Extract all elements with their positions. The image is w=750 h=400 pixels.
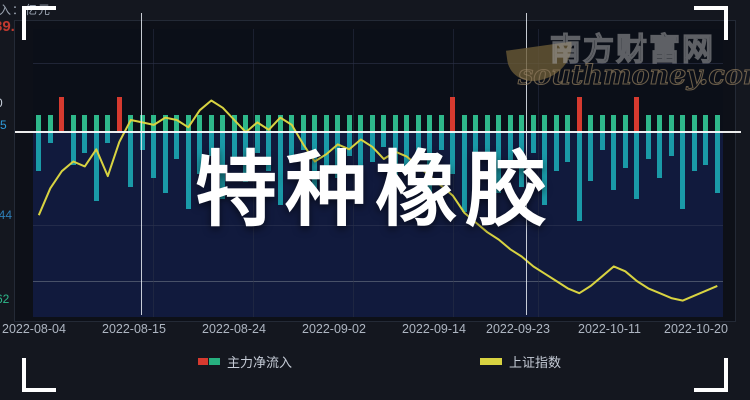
y-axis-unit-label: 流入：亿元 xyxy=(0,1,51,18)
chart-screenshot: 流入：亿元 39. 0 .25 644 62 2022-08-042022-08… xyxy=(0,0,750,400)
y-axis-label: .25 xyxy=(0,118,7,132)
x-axis-tick-label: 2022-10-20 xyxy=(664,322,728,336)
legend-main-net-inflow[interactable]: 主力净流入 xyxy=(198,352,292,371)
header-strip: 流入：亿元 xyxy=(0,0,750,22)
legend-label: 上证指数 xyxy=(509,352,561,371)
x-axis-tick-label: 2022-09-02 xyxy=(302,322,366,336)
x-axis-tick-label: 2022-10-11 xyxy=(578,322,641,336)
x-axis-tick-label: 2022-08-04 xyxy=(2,322,66,336)
zero-axis-line xyxy=(15,131,741,133)
legend-shanghai-index[interactable]: 上证指数 xyxy=(480,352,561,371)
y-axis-label: 62 xyxy=(0,292,9,306)
footer-strip xyxy=(0,382,750,400)
x-axis-tick-label: 2022-09-23 xyxy=(486,322,550,336)
legend-label: 主力净流入 xyxy=(227,352,292,371)
page-title: 特种橡胶 xyxy=(0,150,750,232)
x-axis-tick-label: 2022-08-15 xyxy=(102,322,166,336)
legend-marker-icon xyxy=(198,358,220,365)
x-axis: 2022-08-042022-08-152022-08-242022-09-02… xyxy=(0,322,750,348)
x-axis-tick-label: 2022-09-14 xyxy=(402,322,466,336)
chart-legend: 主力净流入上证指数 xyxy=(0,352,750,378)
legend-marker-icon xyxy=(480,358,502,365)
top-left-value: 39. xyxy=(0,18,15,35)
y-axis-label: 0 xyxy=(0,96,3,110)
x-axis-tick-label: 2022-08-24 xyxy=(202,322,266,336)
